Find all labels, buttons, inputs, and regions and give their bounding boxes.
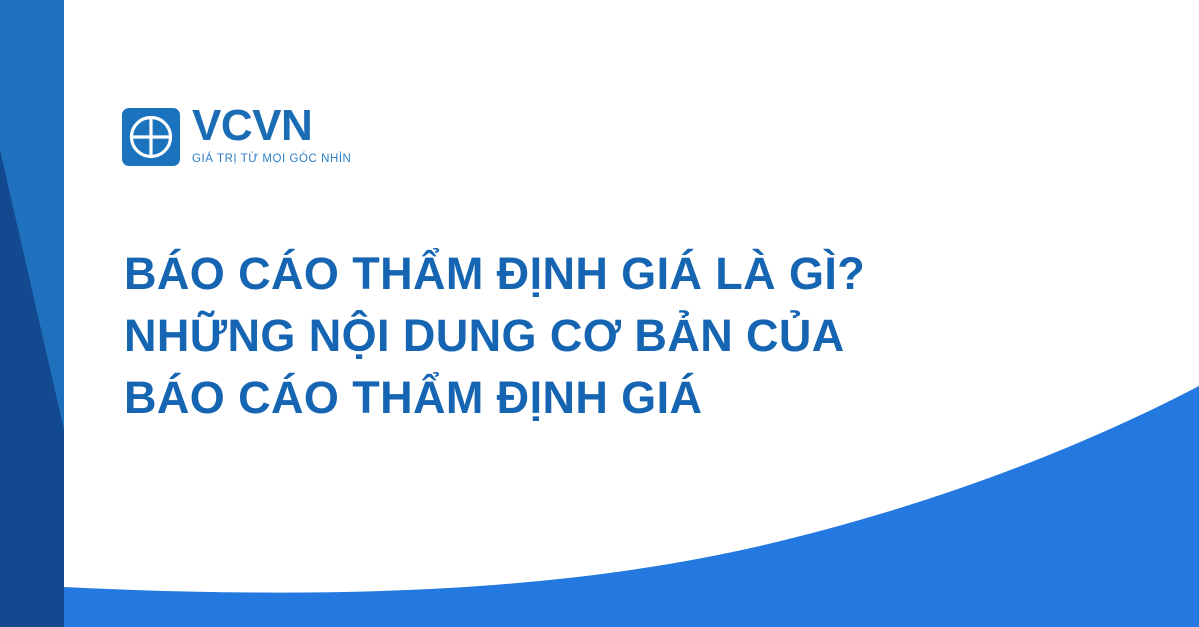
brand-logo: VCVN GIÁ TRỊ TỪ MỌI GÓC NHÌN [122,104,351,166]
headline-line-1: BÁO CÁO THẨM ĐỊNH GIÁ LÀ GÌ? [124,243,1004,305]
left-band-overlay-shape [0,0,64,627]
headline-line-3: BÁO CÁO THẨM ĐỊNH GIÁ [124,367,1004,429]
page-title: BÁO CÁO THẨM ĐỊNH GIÁ LÀ GÌ? NHỮNG NỘI D… [124,243,1004,429]
vcvn-crossed-circle-icon [122,108,180,166]
brand-tagline: GIÁ TRỊ TỪ MỌI GÓC NHÌN [192,153,351,166]
wave-medium-shape [64,505,1199,627]
brand-wordmark: VCVN [192,104,312,148]
left-wedge-overlay-shape [0,150,64,627]
brand-logo-text: VCVN GIÁ TRỊ TỪ MỌI GÓC NHÌN [192,104,351,166]
left-band-shape [0,0,64,627]
headline-line-2: NHỮNG NỘI DUNG CƠ BẢN CỦA [124,305,1004,367]
slide-canvas: VCVN GIÁ TRỊ TỪ MỌI GÓC NHÌN BÁO CÁO THẨ… [0,0,1199,627]
left-wedge-shape [0,150,64,627]
